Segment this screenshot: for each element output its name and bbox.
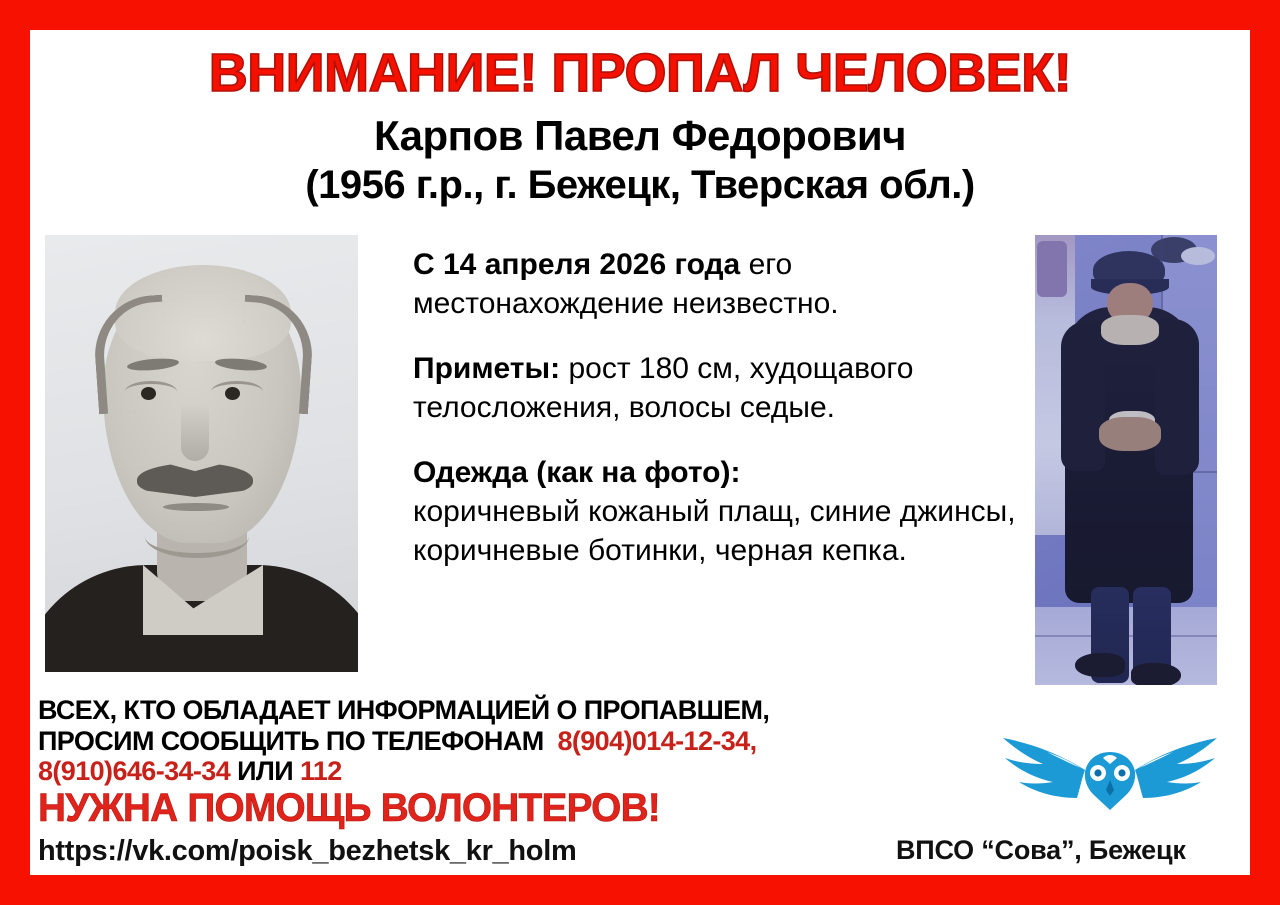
portrait-photo [45,235,358,672]
poster-headline: ВНИМАНИЕ! ПРОПАЛ ЧЕЛОВЕК! [30,46,1250,101]
clothing-text: коричневый кожаный плащ, синие джинсы, к… [413,495,1016,567]
clothing-label: Одежда (как на фото): [413,456,740,489]
owl-logo-icon [985,718,1235,830]
missing-since-date: С 14 апреля 2026 года [413,248,740,281]
cctv-photo [1035,235,1217,685]
description-column: С 14 апреля 2026 года его местонахождени… [413,245,1038,570]
clothing-paragraph: Одежда (как на фото):коричневый кожаный … [413,453,1038,570]
portrait-mouth [163,503,229,511]
poster-sheet: ВНИМАНИЕ! ПРОПАЛ ЧЕЛОВЕК! Карпов Павел Ф… [30,30,1250,875]
or-word: ИЛИ [237,756,293,786]
vk-group-url[interactable]: https://vk.com/poisk_bezhetsk_kr_holm [38,835,576,868]
phone-number-1[interactable]: 8(904)014-12-34, [557,726,756,756]
portrait-nose [181,403,209,461]
contact-line-2: ПРОСИМ СООБЩИТЬ ПО ТЕЛЕФОНАМ 8(904)014-1… [38,726,968,757]
volunteers-call: НУЖНА ПОМОЩЬ ВОЛОНТЕРОВ! [38,786,660,831]
signs-label: Приметы: [413,352,560,385]
missing-since-paragraph: С 14 апреля 2026 года его местонахождени… [413,245,1038,323]
contact-line-1: ВСЕХ, КТО ОБЛАДАЕТ ИНФОРМАЦИЕЙ О ПРОПАВШ… [38,695,968,726]
portrait-eye-right [225,387,240,400]
contact-block: ВСЕХ, КТО ОБЛАДАЕТ ИНФОРМАЦИЕЙ О ПРОПАВШ… [38,695,968,787]
portrait-chin [145,515,249,558]
contact-line-2-prefix: ПРОСИМ СООБЩИТЬ ПО ТЕЛЕФОНАМ [38,726,544,756]
emergency-number[interactable]: 112 [300,756,342,786]
person-birth-location: (1956 г.р., г. Бежецк, Тверская обл.) [30,163,1250,208]
cctv-color-tint [1035,235,1217,685]
person-name: Карпов Павел Федорович [30,112,1250,160]
phone-number-2[interactable]: 8(910)646-34-34 [38,756,230,786]
portrait-eye-left [141,387,156,400]
missing-person-poster: ВНИМАНИЕ! ПРОПАЛ ЧЕЛОВЕК! Карпов Павел Ф… [0,0,1280,905]
signs-paragraph: Приметы: рост 180 см, худощавого телосло… [413,349,1038,427]
organization-label: ВПСО “Сова”, Бежецк [896,835,1186,866]
contact-line-3: 8(910)646-34-34 ИЛИ 112 [38,756,968,787]
